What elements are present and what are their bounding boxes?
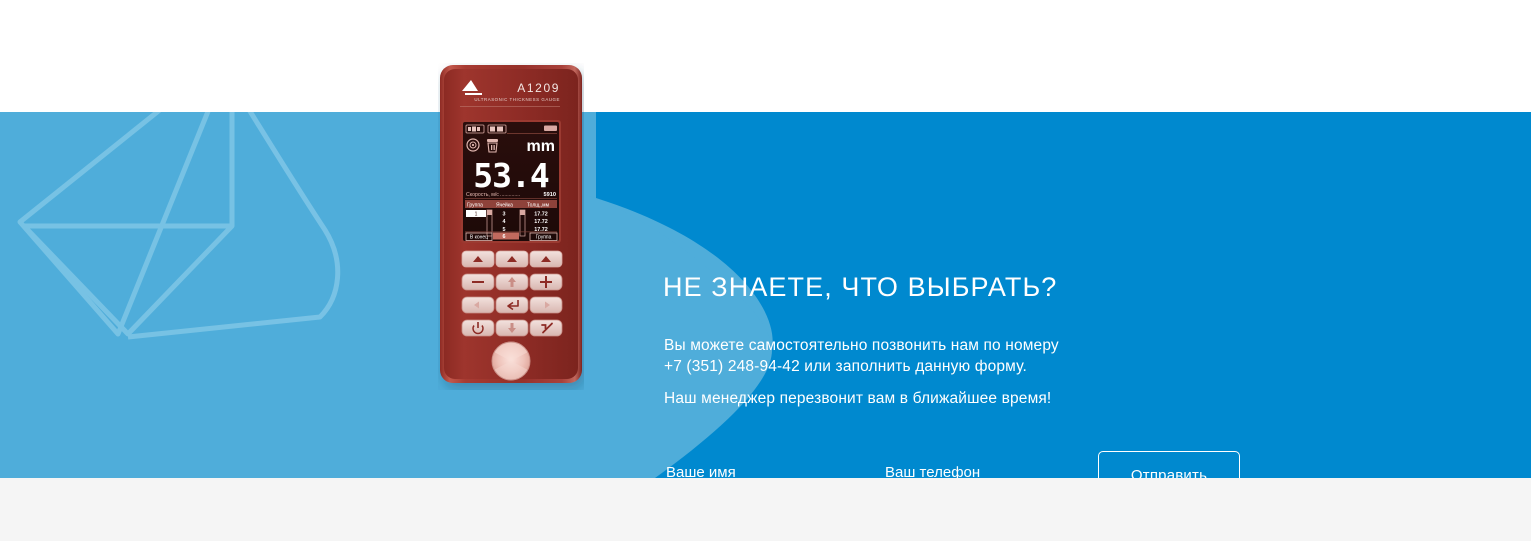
lcd-col-cell: Ячейка <box>496 202 513 209</box>
device-subtitle: ULTRASONIC THICKNESS GAUGE <box>474 97 560 102</box>
lcd-cell-3: 6 <box>503 234 506 240</box>
lcd-reading: 53.4 <box>473 156 549 195</box>
thickness-gauge-device: A1209 ULTRASONIC THICKNESS GAUGE <box>438 63 584 390</box>
lcd-thickness-1: 17.72 <box>534 219 548 225</box>
lcd-cell-0: 3 <box>503 212 506 218</box>
lcd-col-thickness: Толщ.,мм <box>527 203 550 209</box>
bottom-gray-band <box>0 478 1531 541</box>
lcd-softkey-left: В конец <box>470 235 488 241</box>
top-white-band <box>0 0 1531 112</box>
name-input[interactable] <box>664 456 832 478</box>
promo-content: НЕ ЗНАЕТЕ, ЧТО ВЫБРАТЬ? Вы можете самост… <box>663 224 1363 478</box>
lcd-speed-dots: .............. <box>500 192 520 198</box>
lcd-cell-1: 4 <box>503 219 506 225</box>
lcd-speed-label: Скорость, м/с <box>466 192 499 198</box>
minus-icon <box>472 281 484 283</box>
lcd-unit: mm <box>527 138 555 155</box>
lcd-thickness-0: 17.72 <box>534 212 548 218</box>
promo-paragraph-2: Наш менеджер перезвонит вам в ближайшее … <box>664 388 1051 409</box>
triangle-decoration <box>0 112 360 412</box>
submit-button[interactable]: Отправить <box>1098 451 1240 478</box>
promo-paragraph-1-line-1: Вы можете самостоятельно позвонить нам п… <box>664 335 1059 356</box>
phone-input[interactable] <box>883 456 1047 478</box>
keypad-row-3 <box>462 320 562 336</box>
lcd-speed-value: 5910 <box>544 192 556 198</box>
promo-banner: НЕ ЗНАЕТЕ, ЧТО ВЫБРАТЬ? Вы можете самост… <box>0 112 1531 478</box>
lcd-softkey-right: Группа <box>536 235 552 241</box>
device-lcd-screen: mm 53.4 Скорость, м/с .............. 591… <box>461 120 561 243</box>
promo-paragraph-1: Вы можете самостоятельно позвонить нам п… <box>664 335 1059 377</box>
device-model: A1209 <box>517 81 560 95</box>
keypad-row-top <box>462 251 562 267</box>
lcd-group-value: 1 <box>475 212 478 218</box>
keypad-row-2 <box>462 297 562 313</box>
lcd-col-group: Группа <box>467 203 483 209</box>
callback-form: Отправить <box>663 456 1363 478</box>
page-root: НЕ ЗНАЕТЕ, ЧТО ВЫБРАТЬ? Вы можете самост… <box>0 0 1531 541</box>
page-title: НЕ ЗНАЕТЕ, ЧТО ВЫБРАТЬ? <box>663 272 1057 303</box>
device-transducer <box>492 341 530 380</box>
keypad-row-1 <box>462 274 562 290</box>
promo-paragraph-1-line-2: +7 (351) 248-94-42 или заполнить данную … <box>664 356 1059 377</box>
lcd-speed-row: Скорость, м/с .............. 5910 <box>465 192 557 199</box>
